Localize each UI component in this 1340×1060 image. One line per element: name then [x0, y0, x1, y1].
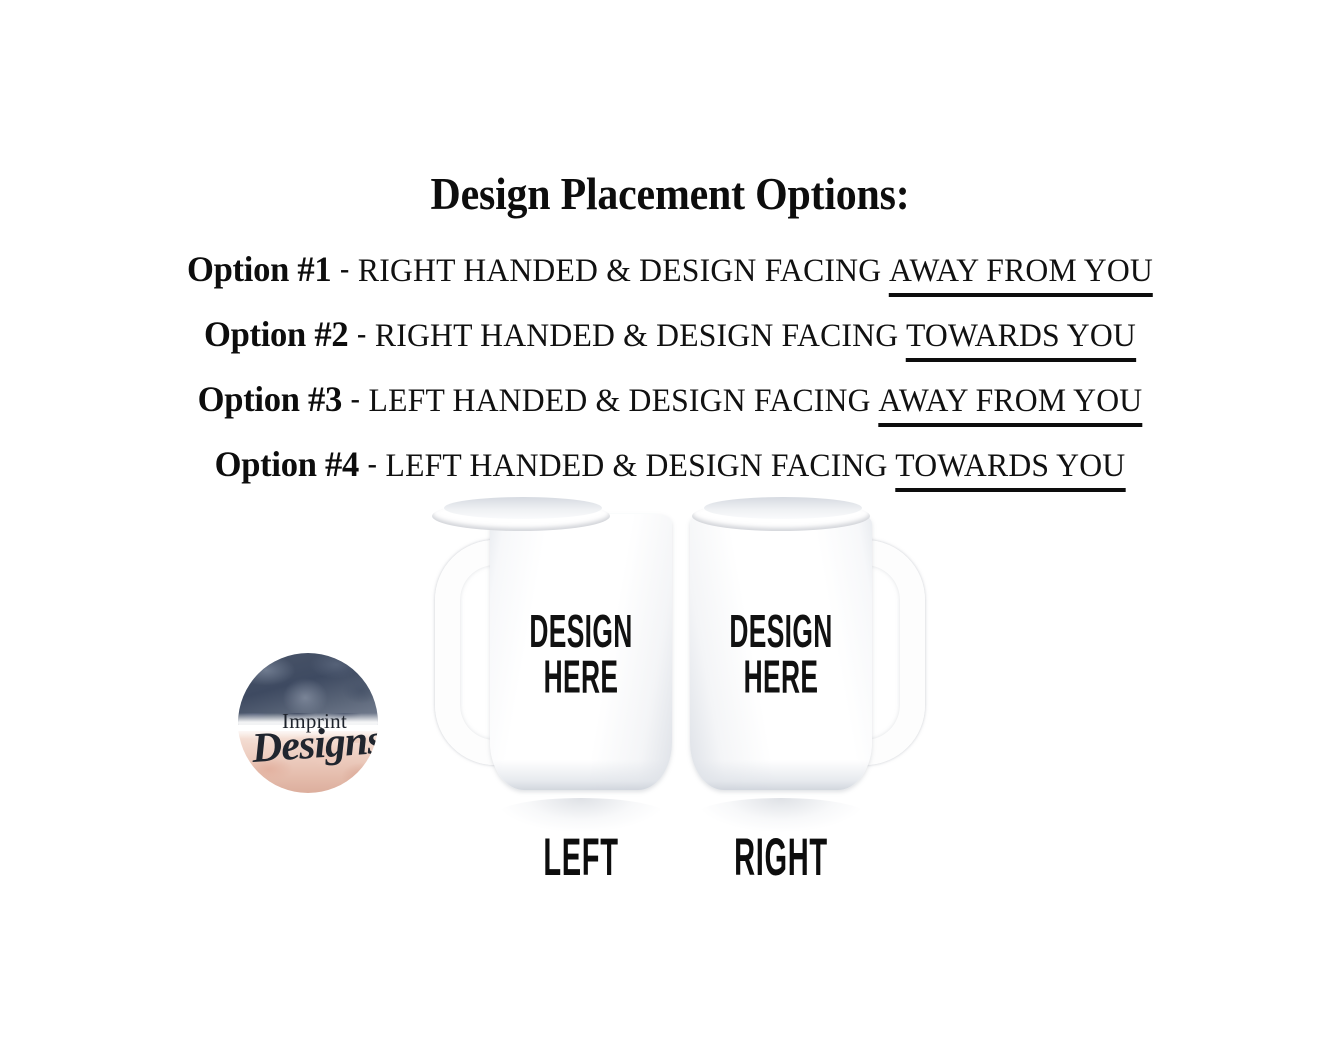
option-label: Option #1: [187, 248, 331, 290]
mug-rim: [432, 501, 610, 531]
option-separator: -: [348, 318, 375, 351]
option-row: Option #3 - LEFT HANDED & DESIGN FACING …: [0, 370, 1340, 435]
option-emphasis-text: AWAY FROM YOU: [878, 383, 1142, 427]
logo-wordmark-designs: Designs: [250, 716, 378, 773]
mug-rim-interior: [704, 497, 862, 519]
mug-caption-right: RIGHT: [721, 828, 841, 888]
mug-left: DESIGN HERE LEFT: [430, 510, 670, 810]
option-label: Option #3: [198, 378, 342, 420]
option-separator: -: [359, 448, 386, 481]
mug-rim: [692, 501, 870, 531]
mug-base-shading: [690, 760, 872, 790]
option-body-text: RIGHT HANDED & DESIGN FACING: [375, 318, 898, 355]
option-separator: -: [331, 253, 358, 286]
option-row: Option #2 - RIGHT HANDED & DESIGN FACING…: [0, 305, 1340, 370]
option-body-text: LEFT HANDED & DESIGN FACING: [386, 448, 888, 485]
option-body-text: LEFT HANDED & DESIGN FACING: [369, 383, 871, 420]
option-emphasis-text: TOWARDS YOU: [906, 318, 1136, 362]
mug-design-line-1: DESIGN: [729, 607, 832, 658]
mug-design-line-1: DESIGN: [529, 607, 632, 658]
mug-reflection: [496, 798, 666, 832]
option-row: Option #4 - LEFT HANDED & DESIGN FACING …: [0, 435, 1340, 500]
imprint-designs-logo: Imprint Designs: [238, 653, 378, 793]
mug-rim-interior: [444, 497, 602, 519]
option-emphasis-text: TOWARDS YOU: [895, 448, 1125, 492]
options-list: Option #1 - RIGHT HANDED & DESIGN FACING…: [0, 240, 1340, 500]
mug-base-shading: [490, 760, 672, 790]
page-title: Design Placement Options:: [47, 168, 1293, 220]
mug-body: DESIGN HERE: [490, 514, 672, 790]
mug-design-placeholder: DESIGN HERE: [521, 610, 641, 701]
option-label: Option #4: [215, 443, 359, 485]
mug-body: DESIGN HERE: [690, 514, 872, 790]
option-emphasis-text: AWAY FROM YOU: [889, 253, 1153, 297]
option-label: Option #2: [204, 313, 348, 355]
option-separator: -: [342, 383, 369, 416]
mug-caption-left: LEFT: [521, 828, 641, 888]
mug-design-line-2: HERE: [521, 655, 641, 700]
option-row: Option #1 - RIGHT HANDED & DESIGN FACING…: [0, 240, 1340, 305]
mug-design-line-2: HERE: [721, 655, 841, 700]
mugs-stage: DESIGN HERE LEFT DESIGN HERE RIGHT: [0, 500, 1340, 880]
mug-right: DESIGN HERE RIGHT: [690, 510, 930, 810]
mug-reflection: [696, 798, 866, 832]
mug-design-placeholder: DESIGN HERE: [721, 610, 841, 701]
option-body-text: RIGHT HANDED & DESIGN FACING: [358, 253, 881, 290]
